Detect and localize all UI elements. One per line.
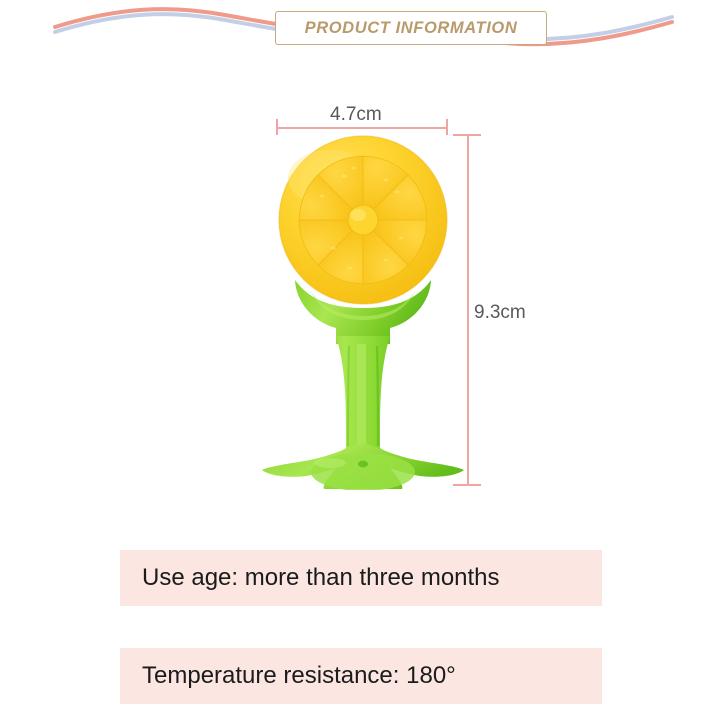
info-band-temperature: Temperature resistance: 180° [120, 648, 602, 704]
teether-base [262, 442, 464, 490]
height-dimension-label: 9.3cm [474, 302, 526, 324]
product-image-teether [258, 130, 468, 490]
citrus-center-hub [348, 205, 378, 235]
base-vent-hole [358, 461, 368, 468]
citrus-slice-disc [279, 136, 447, 304]
header-banner: PRODUCT INFORMATION [0, 0, 718, 62]
info-band-use-age: Use age: more than three months [120, 550, 602, 606]
page-title-box: PRODUCT INFORMATION [275, 11, 547, 45]
temperature-resistance-text: Temperature resistance: 180° [142, 662, 456, 690]
product-information-page: PRODUCT INFORMATION 4.7cm 9.3cm [0, 0, 718, 718]
page-title: PRODUCT INFORMATION [305, 19, 518, 38]
width-dimension-label: 4.7cm [330, 104, 382, 126]
width-dimension-line [276, 127, 448, 129]
use-age-text: Use age: more than three months [142, 564, 500, 592]
